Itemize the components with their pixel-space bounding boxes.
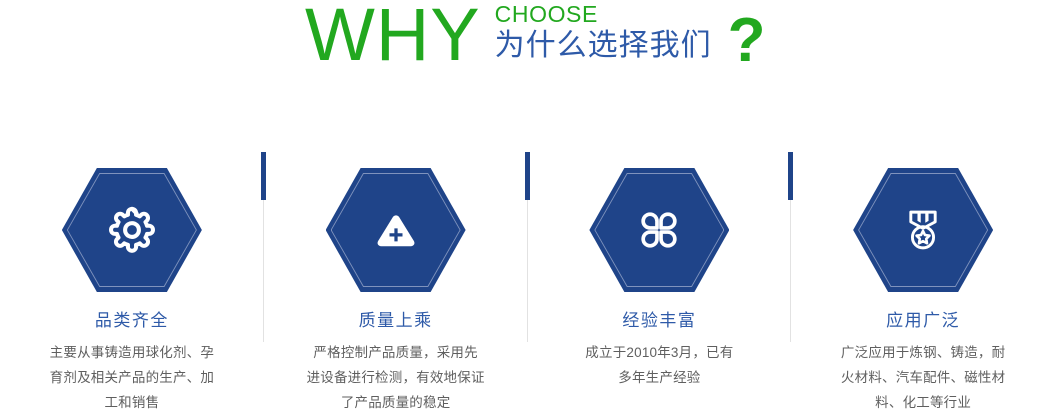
hexagon-badge-2 (326, 168, 466, 292)
heading-choose: CHOOSE (495, 1, 712, 27)
desc-line: 育剂及相关产品的生产、加 (24, 365, 239, 390)
feature-description: 广泛应用于炼钢、铸造，耐 火材料、汽车配件、磁性材 料、化工等行业 (816, 340, 1031, 415)
feature-title: 应用广泛 (886, 311, 960, 331)
heading-why: WHY (305, 0, 481, 72)
medal-star-icon (897, 204, 949, 256)
question-mark-icon: ? (728, 10, 766, 72)
desc-line: 了产品质量的稳定 (288, 390, 503, 415)
hexagon-badge-3 (589, 168, 729, 292)
triangle-plus-icon (370, 204, 422, 256)
feature-column-4: 应用广泛 广泛应用于炼钢、铸造，耐 火材料、汽车配件、磁性材 料、化工等行业 (791, 140, 1055, 416)
feature-column-3: 经验丰富 成立于2010年3月，已有 多年生产经验 (528, 140, 792, 416)
desc-line: 严格控制产品质量，采用先 (288, 340, 503, 365)
desc-line: 进设备进行检测，有效地保证 (288, 365, 503, 390)
feature-description: 成立于2010年3月，已有 多年生产经验 (552, 340, 767, 390)
desc-line: 工和销售 (24, 390, 239, 415)
clover-icon (633, 204, 685, 256)
hexagon-badge-1 (62, 168, 202, 292)
desc-line: 料、化工等行业 (816, 390, 1031, 415)
heading-chinese: 为什么选择我们 (495, 29, 712, 63)
header-title-group: WHY CHOOSE 为什么选择我们 ? (305, 0, 766, 72)
heading-stack: CHOOSE 为什么选择我们 (495, 1, 712, 63)
feature-column-1: 品类齐全 主要从事铸造用球化剂、孕 育剂及相关产品的生产、加 工和销售 (0, 140, 264, 416)
desc-line: 广泛应用于炼钢、铸造，耐 (816, 340, 1031, 365)
desc-line: 主要从事铸造用球化剂、孕 (24, 340, 239, 365)
feature-column-2: 质量上乘 严格控制产品质量，采用先 进设备进行检测，有效地保证 了产品质量的稳定 (264, 140, 528, 416)
gear-icon (106, 204, 158, 256)
section-header: WHY CHOOSE 为什么选择我们 ? (0, 0, 1055, 95)
feature-title: 质量上乘 (359, 311, 433, 331)
feature-title: 经验丰富 (622, 311, 696, 331)
hexagon-badge-4 (853, 168, 993, 292)
feature-description: 严格控制产品质量，采用先 进设备进行检测，有效地保证 了产品质量的稳定 (288, 340, 503, 415)
feature-columns: 品类齐全 主要从事铸造用球化剂、孕 育剂及相关产品的生产、加 工和销售 质量上乘… (0, 140, 1055, 416)
feature-title: 品类齐全 (95, 311, 169, 331)
desc-line: 成立于2010年3月，已有 (552, 340, 767, 365)
desc-line: 火材料、汽车配件、磁性材 (816, 365, 1031, 390)
desc-line: 多年生产经验 (552, 365, 767, 390)
feature-description: 主要从事铸造用球化剂、孕 育剂及相关产品的生产、加 工和销售 (24, 340, 239, 415)
